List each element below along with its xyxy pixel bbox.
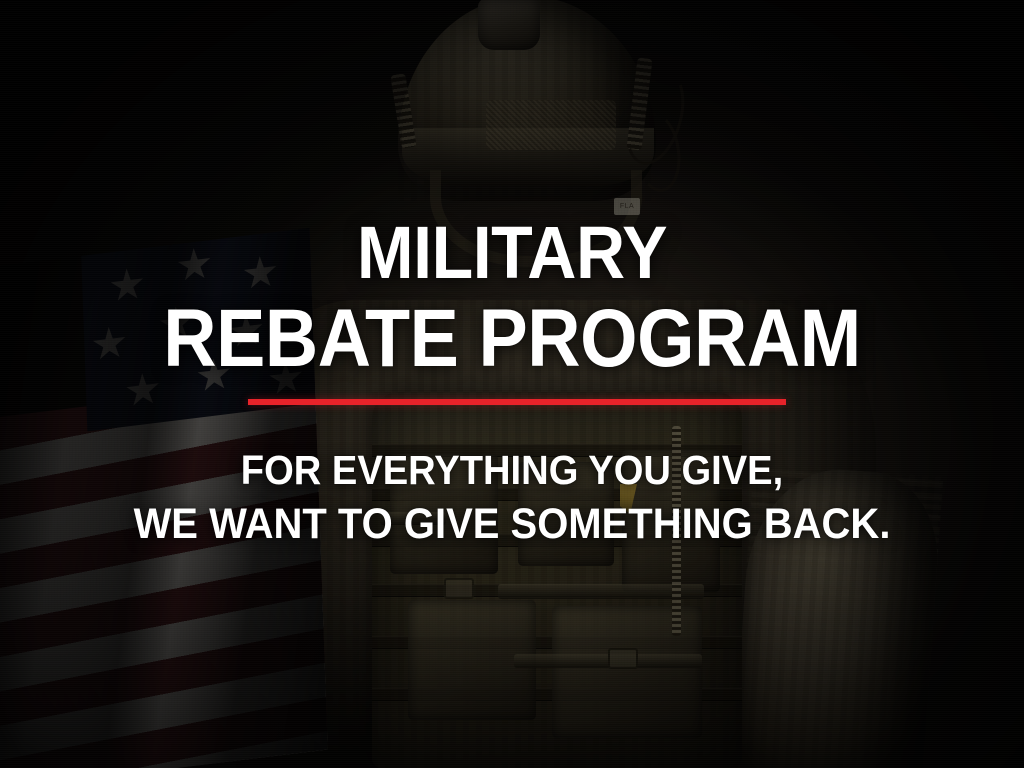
red-divider-rule [248,399,786,405]
subheadline-line-2: WE WANT TO GIVE SOMETHING BACK. [36,503,988,546]
headline-line-1: MILITARY [41,218,983,288]
military-rebate-poster: FLA MILITARY REBATE PROGRAM FOR EVERYTHI… [0,0,1024,768]
text-overlay: MILITARY REBATE PROGRAM FOR EVERYTHING Y… [0,0,1024,768]
subheadline-line-1: FOR EVERYTHING YOU GIVE, [36,450,988,491]
headline-line-2: REBATE PROGRAM [51,300,973,378]
